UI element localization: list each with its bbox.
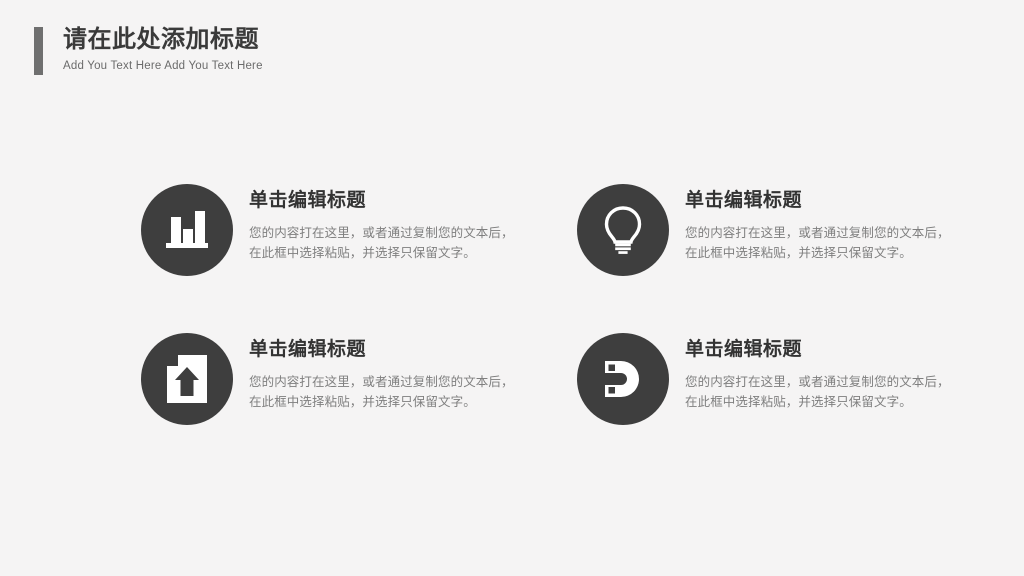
feature-text: 单击编辑标题 您的内容打在这里，或者通过复制您的文本后， 在此框中选择粘贴，并选… xyxy=(685,333,983,412)
feature-body-line: 您的内容打在这里，或者通过复制您的文本后， xyxy=(249,372,547,392)
feature-heading[interactable]: 单击编辑标题 xyxy=(249,189,547,213)
feature-body-line: 您的内容打在这里，或者通过复制您的文本后， xyxy=(685,372,983,392)
feature-body-line: 您的内容打在这里，或者通过复制您的文本后， xyxy=(685,223,983,243)
feature-body[interactable]: 您的内容打在这里，或者通过复制您的文本后， 在此框中选择粘贴，并选择只保留文字。 xyxy=(685,372,983,412)
feature-body[interactable]: 您的内容打在这里，或者通过复制您的文本后， 在此框中选择粘贴，并选择只保留文字。 xyxy=(685,223,983,263)
magnet-icon xyxy=(601,357,645,401)
icon-circle[interactable] xyxy=(577,333,669,425)
feature-text: 单击编辑标题 您的内容打在这里，或者通过复制您的文本后， 在此框中选择粘贴，并选… xyxy=(249,184,547,263)
document-upload-icon xyxy=(166,354,208,404)
feature-item[interactable]: 单击编辑标题 您的内容打在这里，或者通过复制您的文本后， 在此框中选择粘贴，并选… xyxy=(141,184,547,276)
page-subtitle[interactable]: Add You Text Here Add You Text Here xyxy=(63,58,263,74)
feature-heading[interactable]: 单击编辑标题 xyxy=(249,338,547,362)
slide-header: 请在此处添加标题 Add You Text Here Add You Text … xyxy=(34,25,263,75)
feature-heading[interactable]: 单击编辑标题 xyxy=(685,189,983,213)
bar-chart-icon xyxy=(164,208,210,252)
icon-circle[interactable] xyxy=(577,184,669,276)
icon-circle[interactable] xyxy=(141,333,233,425)
feature-item[interactable]: 单击编辑标题 您的内容打在这里，或者通过复制您的文本后， 在此框中选择粘贴，并选… xyxy=(577,184,983,276)
feature-body-line: 在此框中选择粘贴，并选择只保留文字。 xyxy=(685,392,983,412)
feature-text: 单击编辑标题 您的内容打在这里，或者通过复制您的文本后， 在此框中选择粘贴，并选… xyxy=(249,333,547,412)
feature-heading[interactable]: 单击编辑标题 xyxy=(685,338,983,362)
feature-item[interactable]: 单击编辑标题 您的内容打在这里，或者通过复制您的文本后， 在此框中选择粘贴，并选… xyxy=(577,333,983,425)
title-accent-bar xyxy=(34,27,43,75)
icon-circle[interactable] xyxy=(141,184,233,276)
presentation-slide: 请在此处添加标题 Add You Text Here Add You Text … xyxy=(0,0,1024,576)
feature-body-line: 在此框中选择粘贴，并选择只保留文字。 xyxy=(249,243,547,263)
feature-body[interactable]: 您的内容打在这里，或者通过复制您的文本后， 在此框中选择粘贴，并选择只保留文字。 xyxy=(249,372,547,412)
slide-header-text: 请在此处添加标题 Add You Text Here Add You Text … xyxy=(63,25,263,74)
feature-body-line: 您的内容打在这里，或者通过复制您的文本后， xyxy=(249,223,547,243)
feature-body-line: 在此框中选择粘贴，并选择只保留文字。 xyxy=(249,392,547,412)
page-title[interactable]: 请在此处添加标题 xyxy=(63,25,263,55)
lightbulb-icon xyxy=(603,205,643,255)
feature-grid: 单击编辑标题 您的内容打在这里，或者通过复制您的文本后， 在此框中选择粘贴，并选… xyxy=(141,184,983,425)
feature-body[interactable]: 您的内容打在这里，或者通过复制您的文本后， 在此框中选择粘贴，并选择只保留文字。 xyxy=(249,223,547,263)
feature-item[interactable]: 单击编辑标题 您的内容打在这里，或者通过复制您的文本后， 在此框中选择粘贴，并选… xyxy=(141,333,547,425)
feature-body-line: 在此框中选择粘贴，并选择只保留文字。 xyxy=(685,243,983,263)
feature-text: 单击编辑标题 您的内容打在这里，或者通过复制您的文本后， 在此框中选择粘贴，并选… xyxy=(685,184,983,263)
